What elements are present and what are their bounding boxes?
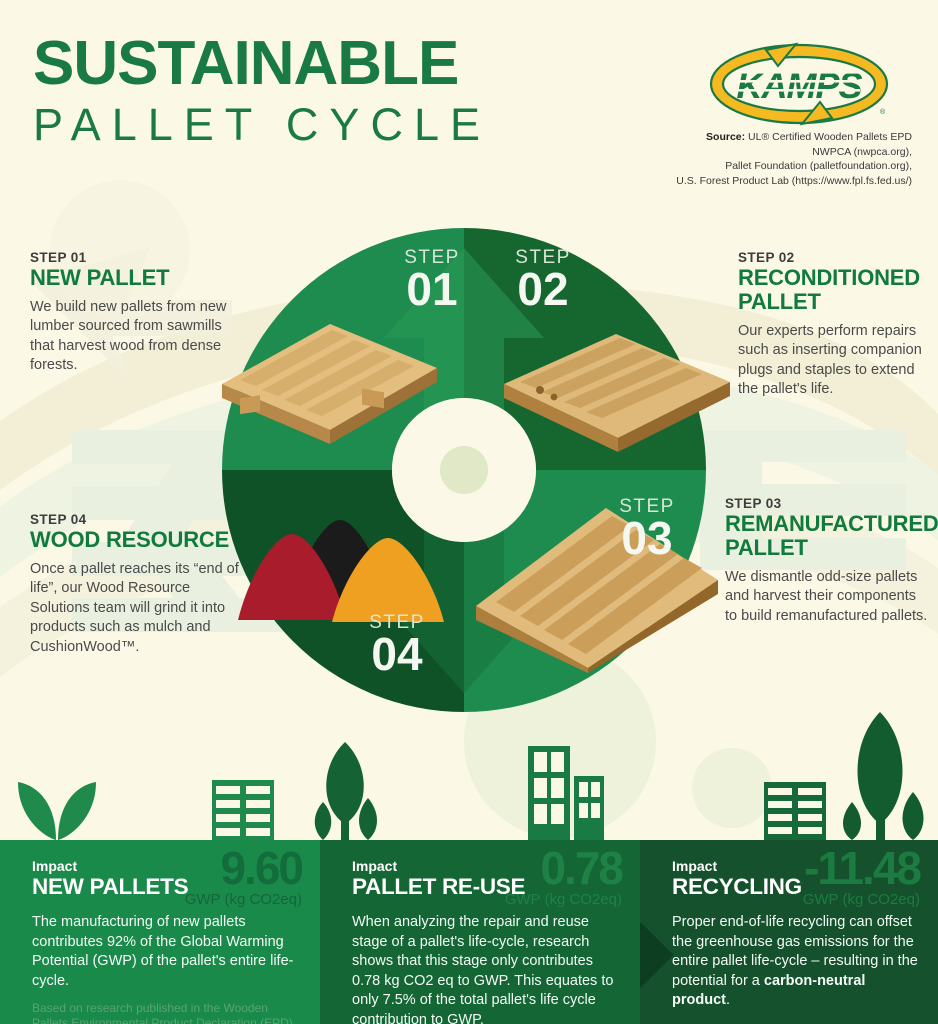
impact-value-2: 0.78 (505, 846, 622, 890)
panel-arrow-icon (640, 922, 674, 987)
reconditioned-pallet-icon (496, 324, 736, 464)
source-line-0: Source: UL® Certified Wooden Pallets EPD (602, 130, 912, 145)
page-title: SUSTAINABLE PALLET CYCLE (33, 34, 491, 153)
callout-kicker-04: STEP 04 (30, 512, 245, 527)
wheel-step-number-02: 02 (497, 268, 589, 310)
wheel-step-02: STEP 02 (497, 248, 589, 310)
impact-number-3: -11.48 GWP (kg CO2eq) (803, 846, 920, 908)
impact-unit-3: GWP (kg CO2eq) (803, 891, 920, 908)
impact-value-1: 9.60 (185, 846, 302, 890)
impact-body-1: The manufacturing of new pallets contrib… (32, 913, 300, 991)
impact-panels: 9.60 GWP (kg CO2eq) Impact NEW PALLETS T… (0, 840, 938, 1024)
impact-value-3: -11.48 (803, 846, 920, 890)
svg-text:®: ® (880, 108, 886, 116)
impact-panel-recycling: -11.48 GWP (kg CO2eq) Impact RECYCLING P… (640, 840, 938, 1024)
impact-panel-new-pallets: 9.60 GWP (kg CO2eq) Impact NEW PALLETS T… (0, 840, 320, 1024)
infographic-root: SUSTAINABLE PALLET CYCLE KAMPS (0, 0, 938, 1024)
callout-kicker-01: STEP 01 (30, 250, 245, 265)
callout-title-02: RECONDITIONED PALLET (738, 266, 938, 314)
callout-title-03: REMANUFACTURED PALLET (725, 512, 930, 560)
impact-unit-2: GWP (kg CO2eq) (505, 891, 622, 908)
source-text-1: NWPCA (nwpca.org), (602, 145, 912, 160)
impact-unit-1: GWP (kg CO2eq) (185, 891, 302, 908)
wheel-step-03: STEP 03 (601, 497, 693, 559)
building-short-icon (574, 776, 604, 840)
skyline-band (0, 690, 938, 850)
impact-body-3: Proper end-of-life recycling can offset … (672, 913, 918, 1011)
callout-body-03: We dismantle odd-size pallets and harves… (725, 568, 930, 627)
source-credits: Source: UL® Certified Wooden Pallets EPD… (602, 130, 912, 188)
impact-body-2: When analyzing the repair and reuse stag… (352, 913, 620, 1024)
callout-step-03: STEP 03 REMANUFACTURED PALLET We dismant… (725, 496, 930, 626)
callout-title-04: WOOD RESOURCE (30, 528, 245, 552)
source-text-0: UL® Certified Wooden Pallets EPD (748, 131, 912, 143)
callout-kicker-02: STEP 02 (738, 250, 938, 265)
source-text-3: U.S. Forest Product Lab (https://www.fpl… (602, 174, 912, 189)
callout-body-01: We build new pallets from new lumber sou… (30, 298, 245, 376)
wheel-step-number-04: 04 (351, 633, 443, 675)
pallet-stack-icon-2 (764, 782, 826, 840)
callout-kicker-03: STEP 03 (725, 496, 930, 511)
callout-step-02: STEP 02 RECONDITIONED PALLET Our experts… (738, 250, 938, 400)
callout-step-01: STEP 01 NEW PALLET We build new pallets … (30, 250, 245, 376)
wheel-step-04: STEP 04 (351, 613, 443, 675)
impact-body-3-post: . (726, 992, 730, 1008)
callout-step-04: STEP 04 WOOD RESOURCE Once a pallet reac… (30, 512, 245, 657)
tree-tall-icon-2 (843, 712, 924, 840)
building-tall-icon (528, 746, 570, 840)
logo-wordmark: KAMPS (736, 65, 862, 106)
wheel-step-01: STEP 01 (386, 248, 478, 310)
impact-number-2: 0.78 GWP (kg CO2eq) (505, 846, 622, 908)
pallet-cycle-wheel: STEP 01 STEP 02 STEP 03 STEP 04 (214, 228, 714, 713)
pallet-stack-icon (212, 780, 274, 840)
new-pallet-icon (212, 306, 442, 446)
callout-title-01: NEW PALLET (30, 266, 245, 290)
callout-body-04: Once a pallet reaches its “end of life”,… (30, 560, 245, 658)
wheel-step-number-03: 03 (601, 517, 693, 559)
mulch-piles-icon (236, 500, 446, 630)
kamps-logo[interactable]: KAMPS ® (700, 38, 898, 126)
impact-note-1: Based on research published in the Woode… (32, 1001, 300, 1024)
title-sub: PALLET CYCLE (33, 97, 491, 153)
impact-number-1: 9.60 GWP (kg CO2eq) (185, 846, 302, 908)
title-main: SUSTAINABLE (33, 34, 491, 95)
header: SUSTAINABLE PALLET CYCLE KAMPS (0, 0, 938, 200)
impact-panel-pallet-reuse: 0.78 GWP (kg CO2eq) Impact PALLET RE-USE… (320, 840, 640, 1024)
source-label: Source: (706, 131, 745, 143)
tree-tall-icon (315, 742, 377, 840)
callout-body-02: Our experts perform repairs such as inse… (738, 322, 938, 400)
wheel-step-number-01: 01 (386, 268, 478, 310)
source-text-2: Pallet Foundation (palletfoundation.org)… (602, 159, 912, 174)
